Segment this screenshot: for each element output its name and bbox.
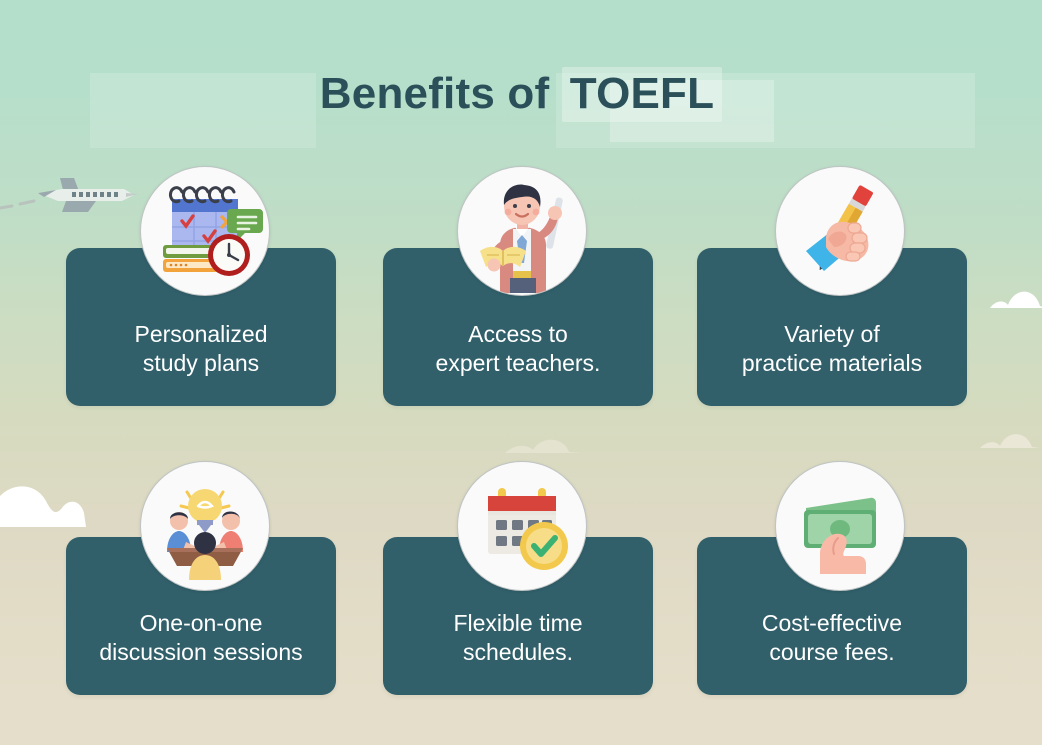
card-label-personalized-study-plans: Personalized study plans bbox=[76, 320, 326, 377]
card-label-practice-materials: Variety of practice materials bbox=[707, 320, 957, 377]
benefit-card-grid: Personalized study plans bbox=[0, 0, 1042, 745]
infographic-canvas: Benefits of TOEFL Personalized study pla… bbox=[0, 0, 1042, 745]
card-label-flexible-schedules: Flexible time schedules. bbox=[393, 609, 643, 666]
teacher-icon bbox=[457, 166, 587, 296]
card-label-expert-teachers: Access to expert teachers. bbox=[393, 320, 643, 377]
group-discussion-idea-icon bbox=[140, 461, 270, 591]
calendar-books-clock-icon bbox=[140, 166, 270, 296]
hand-pencil-icon bbox=[775, 166, 905, 296]
money-hand-icon bbox=[775, 461, 905, 591]
card-label-discussion-sessions: One-on-one discussion sessions bbox=[76, 609, 326, 666]
card-label-cost-effective-fees: Cost-effective course fees. bbox=[707, 609, 957, 666]
calendar-check-icon bbox=[457, 461, 587, 591]
